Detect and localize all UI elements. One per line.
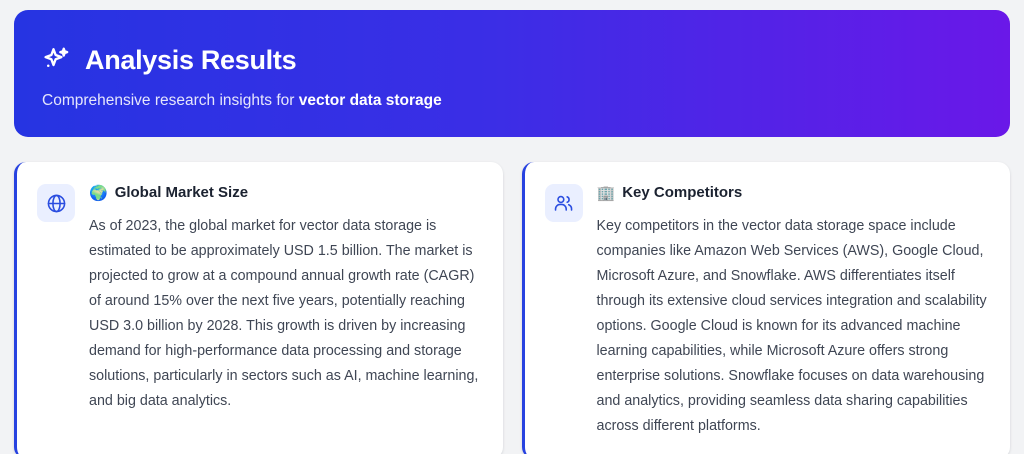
card-body-text: As of 2023, the global market for vector… (89, 214, 481, 414)
sparkles-icon (42, 45, 72, 75)
card-title: 🏢 Key Competitors (597, 183, 989, 203)
banner-subtitle: Comprehensive research insights for vect… (42, 92, 982, 111)
analysis-results-page: Analysis Results Comprehensive research … (0, 0, 1024, 454)
card-content: 🏢 Key Competitors Key competitors in the… (597, 182, 989, 439)
card-header: 🏢 Key Competitors Key competitors in the… (545, 182, 989, 439)
insight-card-global-market-size[interactable]: 🌍 Global Market Size As of 2023, the glo… (14, 162, 503, 454)
card-content: 🌍 Global Market Size As of 2023, the glo… (89, 182, 481, 414)
card-title: 🌍 Global Market Size (89, 183, 481, 203)
card-header: 🌍 Global Market Size As of 2023, the glo… (37, 182, 481, 414)
globe-icon (46, 193, 67, 214)
page-title: Analysis Results (85, 47, 296, 74)
banner-subtitle-prefix: Comprehensive research insights for (42, 92, 299, 109)
users-icon (553, 193, 574, 214)
users-icon-chip (545, 184, 583, 222)
office-building-emoji: 🏢 (597, 186, 616, 201)
earth-globe-emoji: 🌍 (89, 186, 108, 201)
globe-icon-chip (37, 184, 75, 222)
card-body-text: Key competitors in the vector data stora… (597, 214, 989, 439)
analysis-results-banner: Analysis Results Comprehensive research … (14, 10, 1010, 137)
banner-title-row: Analysis Results (42, 45, 982, 75)
banner-subtitle-topic: vector data storage (299, 92, 442, 109)
card-title-text: Key Competitors (622, 183, 742, 203)
insight-cards: 🌍 Global Market Size As of 2023, the glo… (14, 162, 1010, 454)
card-title-text: Global Market Size (115, 183, 248, 203)
insight-card-key-competitors[interactable]: 🏢 Key Competitors Key competitors in the… (522, 162, 1011, 454)
